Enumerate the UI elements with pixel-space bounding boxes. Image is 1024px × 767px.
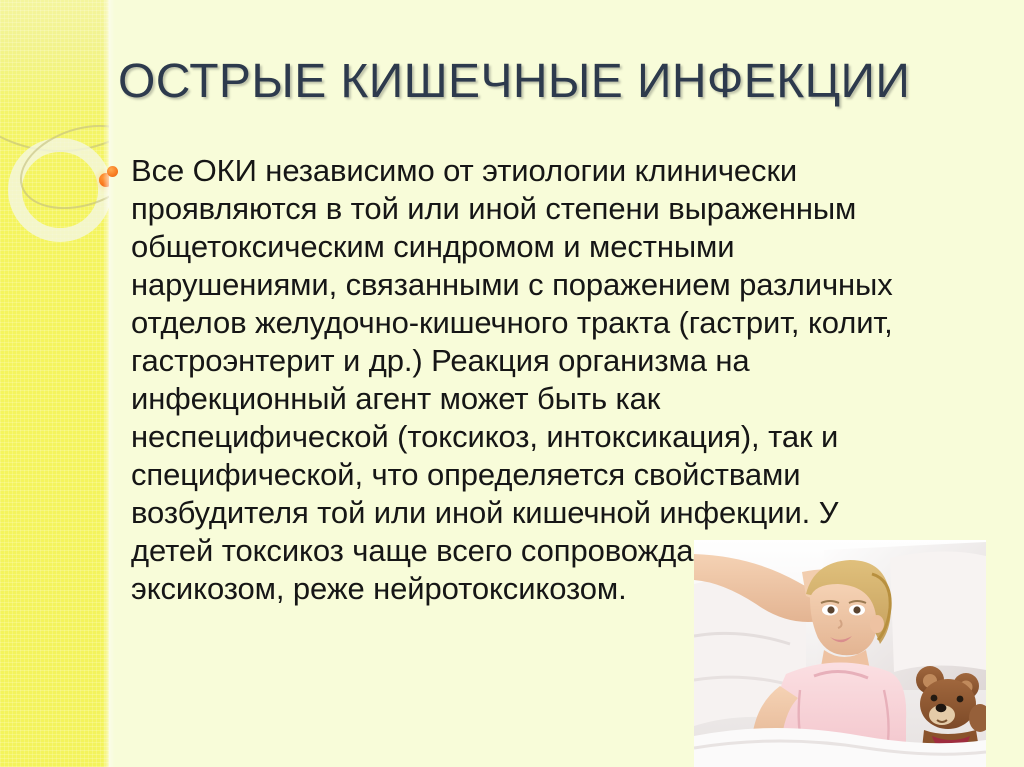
photo-illustration [694,540,986,767]
page-title: ОСТРЫЕ КИШЕЧНЫЕ ИНФЕКЦИИ [118,54,998,109]
decorative-left-band [0,0,109,767]
orange-dot-bullet-icon [107,166,118,177]
sick-child-in-bed-photo [694,540,986,767]
presentation-slide: ОСТРЫЕ КИШЕЧНЫЕ ИНФЕКЦИИ Все ОКИ независ… [0,0,1024,767]
